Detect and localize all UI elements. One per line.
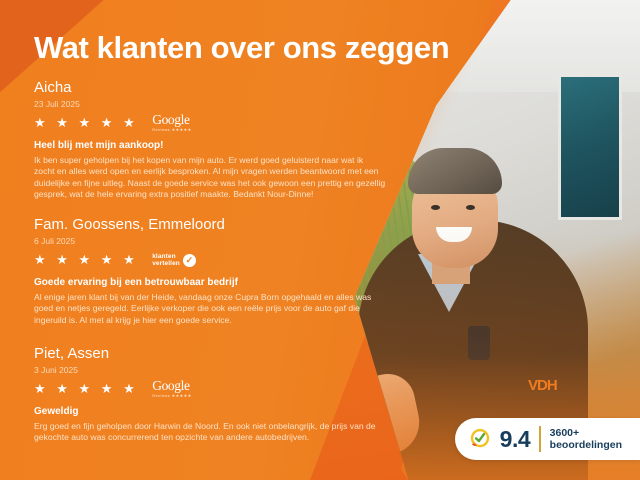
google-reviews-sublabel: Reviews ★★★★★ — [152, 127, 191, 133]
review-card: Piet, Assen 3 Juni 2025 ★ ★ ★ ★ ★ Google… — [34, 345, 394, 444]
klantenvertellen-seal-icon — [469, 428, 491, 450]
review-title: Heel blij met mijn aankoop! — [34, 139, 394, 153]
banner-content: Wat klanten over ons zeggen Aicha 23 Jul… — [0, 0, 640, 480]
review-date: 6 Juli 2025 — [34, 235, 394, 248]
review-card: Fam. Goossens, Emmeloord 6 Juli 2025 ★ ★… — [34, 216, 394, 326]
review-date: 23 Juli 2025 — [34, 98, 394, 111]
klantenvertellen-logo: klanten vertellen ✓ — [152, 253, 196, 268]
review-date: 3 Juni 2025 — [34, 364, 394, 377]
star-rating: ★ ★ ★ ★ ★ — [34, 380, 138, 398]
review-banner: VDH Wat klanten over ons zeggen Aicha 23… — [0, 0, 640, 480]
star-rating: ★ ★ ★ ★ ★ — [34, 114, 138, 132]
score-count: 3600+ — [550, 427, 622, 440]
review-card: Aicha 23 Juli 2025 ★ ★ ★ ★ ★ Google Revi… — [34, 79, 394, 201]
score-label: beoordelingen — [550, 439, 622, 452]
reviewer-name: Piet, Assen — [34, 345, 394, 363]
klantenvertellen-line1: klanten — [152, 253, 180, 261]
page-title: Wat klanten over ons zeggen — [34, 30, 449, 66]
badge-divider — [539, 426, 541, 452]
score-count-block: 3600+ beoordelingen — [550, 427, 622, 452]
google-wordmark: Google — [152, 379, 191, 393]
review-meta: ★ ★ ★ ★ ★ Google Reviews ★★★★★ — [34, 114, 394, 132]
google-logo: Google Reviews ★★★★★ — [152, 379, 191, 399]
review-body: Al enige jaren klant bij van der Heide, … — [34, 292, 386, 326]
klantenvertellen-line2: vertellen — [152, 260, 180, 268]
check-circle-icon: ✓ — [183, 254, 196, 267]
review-meta: ★ ★ ★ ★ ★ klanten vertellen ✓ — [34, 251, 394, 269]
review-title: Goede ervaring bij een betrouwbaar bedri… — [34, 276, 394, 290]
score-value: 9.4 — [500, 428, 530, 451]
google-logo: Google Reviews ★★★★★ — [152, 113, 191, 133]
google-wordmark: Google — [152, 113, 191, 127]
google-reviews-sublabel: Reviews ★★★★★ — [152, 393, 191, 399]
star-rating: ★ ★ ★ ★ ★ — [34, 251, 138, 269]
reviewer-name: Aicha — [34, 79, 394, 97]
score-badge: 9.4 3600+ beoordelingen — [455, 418, 640, 460]
review-title: Geweldig — [34, 405, 394, 419]
review-body: Erg goed en fijn geholpen door Harwin de… — [34, 421, 386, 444]
review-meta: ★ ★ ★ ★ ★ Google Reviews ★★★★★ — [34, 380, 394, 398]
klantenvertellen-wordmark: klanten vertellen — [152, 253, 180, 268]
review-body: Ik ben super geholpen bij het kopen van … — [34, 155, 386, 201]
reviewer-name: Fam. Goossens, Emmeloord — [34, 216, 394, 234]
